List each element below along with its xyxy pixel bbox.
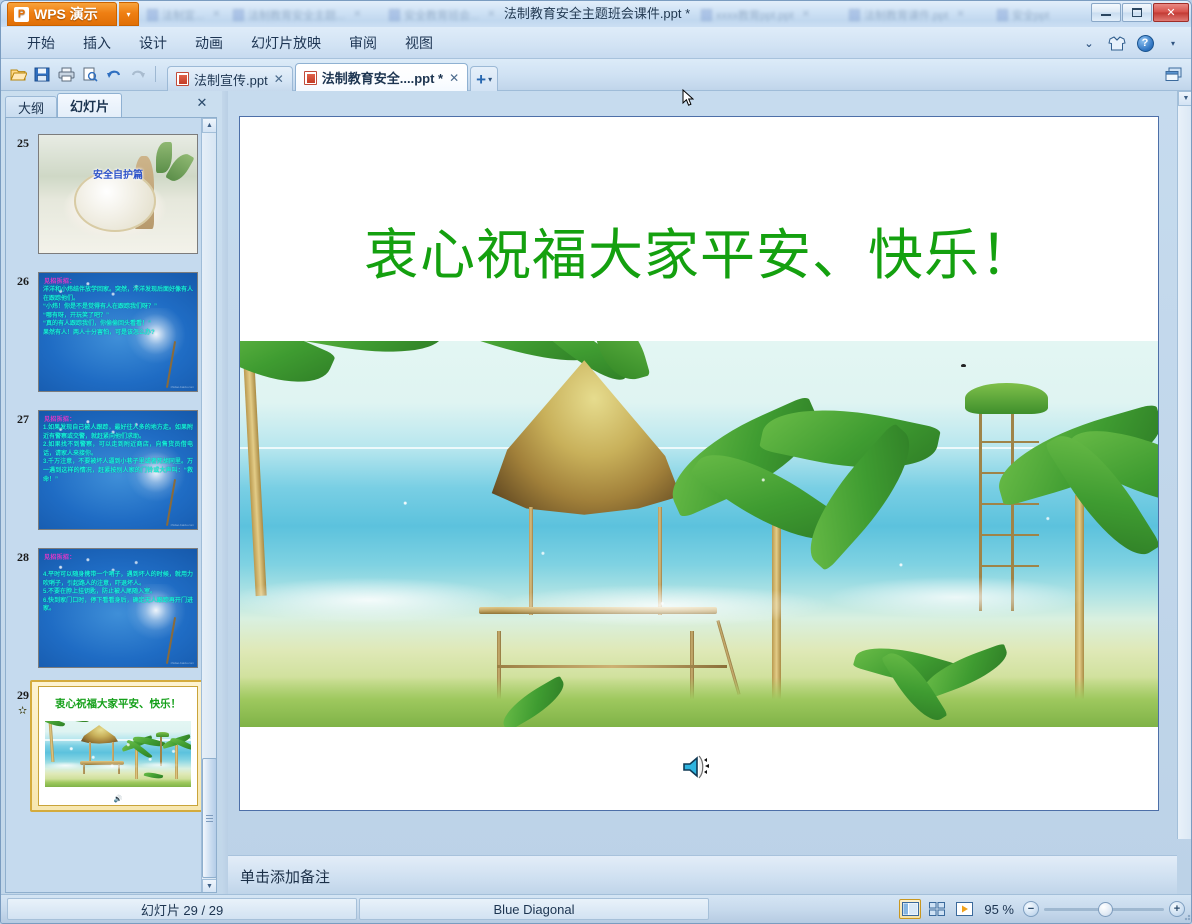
slide-thumbnail-28[interactable]: 28 见招拆招： 4.平时可以随身携带一个哨子，遇到坏人的时候，就用力吹哨子，引… <box>6 548 202 670</box>
plus-icon: + <box>476 71 486 88</box>
skin-shirt-glyph <box>1108 36 1126 51</box>
close-button[interactable]: ✕ <box>1153 3 1189 22</box>
slide-number: 27 <box>17 412 29 427</box>
menu-bar: 开始 插入 设计 动画 幻灯片放映 审阅 视图 ⌄ ? ▾ <box>1 27 1192 59</box>
scroll-down-arrow-icon[interactable]: ▼ <box>202 879 217 893</box>
window-controls: ✕ <box>1091 3 1189 22</box>
normal-view-button[interactable] <box>899 899 921 919</box>
ppt-file-icon <box>304 71 317 85</box>
beach-scene <box>45 721 190 787</box>
maximize-button[interactable] <box>1122 3 1152 22</box>
dandelion-artwork: 见招拆招： 4.平时可以随身携带一个哨子，遇到坏人的时候，就用力吹哨子，引起路人… <box>39 549 197 667</box>
teacup-artwork <box>39 135 197 253</box>
status-bar: 幻灯片 29 / 29 Blue Diagonal 95 % − + <box>1 894 1192 923</box>
ppt-file-icon <box>176 72 189 86</box>
slide-thumbnail-image[interactable]: 见招拆招： 1.如果发现自己被人跟踪，最好往人多的地方走。如果附近有警察或交警，… <box>38 410 198 530</box>
tab-outline[interactable]: 大纲 <box>5 96 57 117</box>
document-tab-strip: 法制宣传.ppt ✕ 法制教育安全....ppt * ✕ + ▾ <box>167 61 498 91</box>
slide-number: 28 <box>17 550 29 565</box>
close-icon[interactable]: ✕ <box>273 72 285 86</box>
dandelion-artwork: 见招拆招： 洋洋和小炜结伴放学回家。突然，洋洋发现后面好像有人在跟踪他们。 “小… <box>39 273 197 391</box>
title-bar: P WPS 演示 ▾ 法制宣... ✕ 法制教育安全主题... ✕ 安全教育班会… <box>1 1 1192 27</box>
slide-thumbnail-25[interactable]: 25 安全自护篇 <box>6 134 202 256</box>
zoom-slider[interactable] <box>1044 908 1164 911</box>
menu-review[interactable]: 审阅 <box>335 28 391 58</box>
quick-access-toolbar-and-tabs: ▾ 法制宣传.ppt ✕ 法制教育安全....ppt * ✕ + ▾ <box>1 59 1192 91</box>
slide-body-text: 1.如果发现自己被人跟踪，最好往人多的地方走。如果附近有警察或交警，就赶紧向他们… <box>43 424 193 484</box>
menu-slideshow[interactable]: 幻灯片放映 <box>237 28 335 58</box>
doc-tab-label: 法制宣传.ppt <box>194 70 268 89</box>
zoom-level-label: 95 % <box>984 902 1014 917</box>
doc-tab-label: 法制教育安全....ppt * <box>322 68 443 87</box>
flower-shape <box>90 182 115 201</box>
scroll-up-arrow-icon[interactable]: ▲ <box>202 118 217 133</box>
status-bar-right: 95 % − + <box>899 899 1185 919</box>
quick-access-toolbar: ▾ <box>7 63 184 85</box>
slideshow-play-button[interactable] <box>953 899 975 919</box>
maximize-icon <box>1132 8 1142 17</box>
slide-thumbnail-image[interactable]: 见招拆招： 洋洋和小炜结伴放学回家。突然，洋洋发现后面好像有人在跟踪他们。 “小… <box>38 272 198 392</box>
slide-thumbnail-27[interactable]: 27 见招拆招： 1.如果发现自己被人跟踪，最好往人多的地方走。如果附近有警察或… <box>6 410 202 532</box>
dropdown-caret-icon[interactable]: ▾ <box>1163 33 1183 53</box>
slide-title-text: 衷心祝福大家平安、快乐！ <box>39 696 197 711</box>
slide-thumbnail-26[interactable]: 26 见招拆招： 洋洋和小炜结伴放学回家。突然，洋洋发现后面好像有人在跟踪他们。… <box>6 272 202 394</box>
slides-outline-panel: 大纲 幻灯片 ✕ 25 安全自护篇 <box>1 91 222 896</box>
slide-number: 29 <box>17 688 29 703</box>
slide-header-text: 见招拆招： <box>44 276 76 285</box>
notes-placeholder[interactable]: 单击添加备注 <box>240 866 330 887</box>
scrollbar-thumb[interactable] <box>202 758 217 878</box>
slide-title-textbox[interactable]: 衷心祝福大家平安、快乐！ <box>264 213 1136 297</box>
minimize-icon <box>1101 14 1111 16</box>
slide-sorter-button[interactable] <box>926 899 948 919</box>
slide-editor-area: 衷心祝福大家平安、快乐！ <box>228 91 1192 896</box>
restore-window-icon[interactable] <box>1163 64 1185 84</box>
mouse-cursor <box>682 89 694 107</box>
menu-view[interactable]: 视图 <box>391 28 447 58</box>
close-icon[interactable]: ✕ <box>448 71 460 85</box>
slide-thumbnail-image[interactable]: 安全自护篇 <box>38 134 198 254</box>
slide-thumbnail-list: 25 安全自护篇 26 <box>6 118 202 893</box>
menu-insert[interactable]: 插入 <box>69 28 125 58</box>
toolbar-divider <box>155 66 156 82</box>
slide-picture[interactable] <box>240 341 1158 727</box>
slide-thumbnail-image[interactable]: 见招拆招： 4.平时可以随身携带一个哨子，遇到坏人的时候，就用力吹哨子，引起路人… <box>38 548 198 668</box>
flower-shape <box>109 211 134 230</box>
canvas-vertical-scrollbar[interactable]: ▲ ▼ <box>1177 91 1192 839</box>
slide-number: 26 <box>17 274 29 289</box>
slide-header-text: 见招拆招： <box>44 414 76 423</box>
slide-counter: 幻灯片 29 / 29 <box>7 898 357 920</box>
open-icon[interactable] <box>7 63 29 85</box>
scroll-down-arrow-icon[interactable]: ▼ <box>1178 91 1192 106</box>
menubar-right-icons: ⌄ ? ▾ <box>1079 27 1183 59</box>
chevron-down-icon[interactable]: ⌄ <box>1079 33 1099 53</box>
slide-thumbnail-image[interactable]: 衷心祝福大家平安、快乐！ <box>38 686 198 806</box>
document-title: 法制教育安全主题班会课件.ppt * <box>1 5 1192 23</box>
wps-presentation-window: P WPS 演示 ▾ 法制宣... ✕ 法制教育安全主题... ✕ 安全教育班会… <box>0 0 1192 924</box>
minimize-button[interactable] <box>1091 3 1121 22</box>
slide-body-text: 洋洋和小炜结伴放学回家。突然，洋洋发现后面好像有人在跟踪他们。 “小炜！你是不是… <box>43 286 193 338</box>
sound-speaker-icon[interactable] <box>681 753 717 781</box>
beach-slide-artwork: 衷心祝福大家平安、快乐！ <box>39 687 197 805</box>
doc-tab-fazhi-jiaoyu-anquan[interactable]: 法制教育安全....ppt * ✕ <box>295 63 468 91</box>
menu-start[interactable]: 开始 <box>13 28 69 58</box>
zoom-out-button[interactable]: − <box>1023 901 1039 917</box>
dandelion-artwork: 见招拆招： 1.如果发现自己被人跟踪，最好往人多的地方走。如果附近有警察或交警，… <box>39 411 197 529</box>
slide-body-text: 4.平时可以随身携带一个哨子，遇到坏人的时候，就用力吹哨子，引起路人的注意，吓退… <box>43 571 193 614</box>
slide-canvas[interactable]: 衷心祝福大家平安、快乐！ <box>239 116 1159 811</box>
watermark-text: zhidao.baidu.com <box>170 385 194 389</box>
watermark-text: zhidao.baidu.com <box>170 523 194 527</box>
save-icon[interactable] <box>31 63 53 85</box>
zoom-slider-handle[interactable] <box>1098 902 1113 917</box>
slide-title-text: 安全自护篇 <box>39 166 197 181</box>
tab-slides[interactable]: 幻灯片 <box>57 93 122 117</box>
animation-star-icon: ✫ <box>18 704 27 717</box>
notes-pane[interactable]: 单击添加备注 <box>228 855 1177 896</box>
doc-tab-fazhi-xuanchuan[interactable]: 法制宣传.ppt ✕ <box>167 66 293 91</box>
new-tab-button[interactable]: + ▾ <box>470 66 498 91</box>
slide-thumbnail-29[interactable]: 29 ✫ 衷心祝福大家平安、快乐！ <box>6 686 202 818</box>
panel-close-button[interactable]: ✕ <box>194 95 210 111</box>
slide-header-text: 见招拆招： <box>44 552 76 561</box>
undo-icon[interactable] <box>103 63 125 85</box>
menu-design[interactable]: 设计 <box>125 28 181 58</box>
watermark-text: zhidao.baidu.com <box>170 661 194 665</box>
print-preview-icon[interactable] <box>79 63 101 85</box>
chevron-down-icon[interactable]: ▾ <box>488 75 492 84</box>
print-icon[interactable] <box>55 63 77 85</box>
window-resize-grip[interactable] <box>1181 911 1191 921</box>
skin-shirt-icon[interactable] <box>1107 33 1127 53</box>
panel-tab-strip: 大纲 幻灯片 <box>5 93 122 117</box>
slide-number: 25 <box>17 136 29 151</box>
redo-icon[interactable] <box>127 63 149 85</box>
theme-name: Blue Diagonal <box>359 898 709 920</box>
help-question-icon[interactable]: ? <box>1135 33 1155 53</box>
slide-thumbnail-pane[interactable]: 25 安全自护篇 26 <box>5 117 217 893</box>
sound-icon: 🔊 <box>39 795 197 803</box>
beach-scene <box>240 341 1158 727</box>
menu-animation[interactable]: 动画 <box>181 28 237 58</box>
thumbnail-scrollbar[interactable]: ▲ ▼ <box>201 118 216 893</box>
menu-items: 开始 插入 设计 动画 幻灯片放映 审阅 视图 <box>13 27 447 59</box>
